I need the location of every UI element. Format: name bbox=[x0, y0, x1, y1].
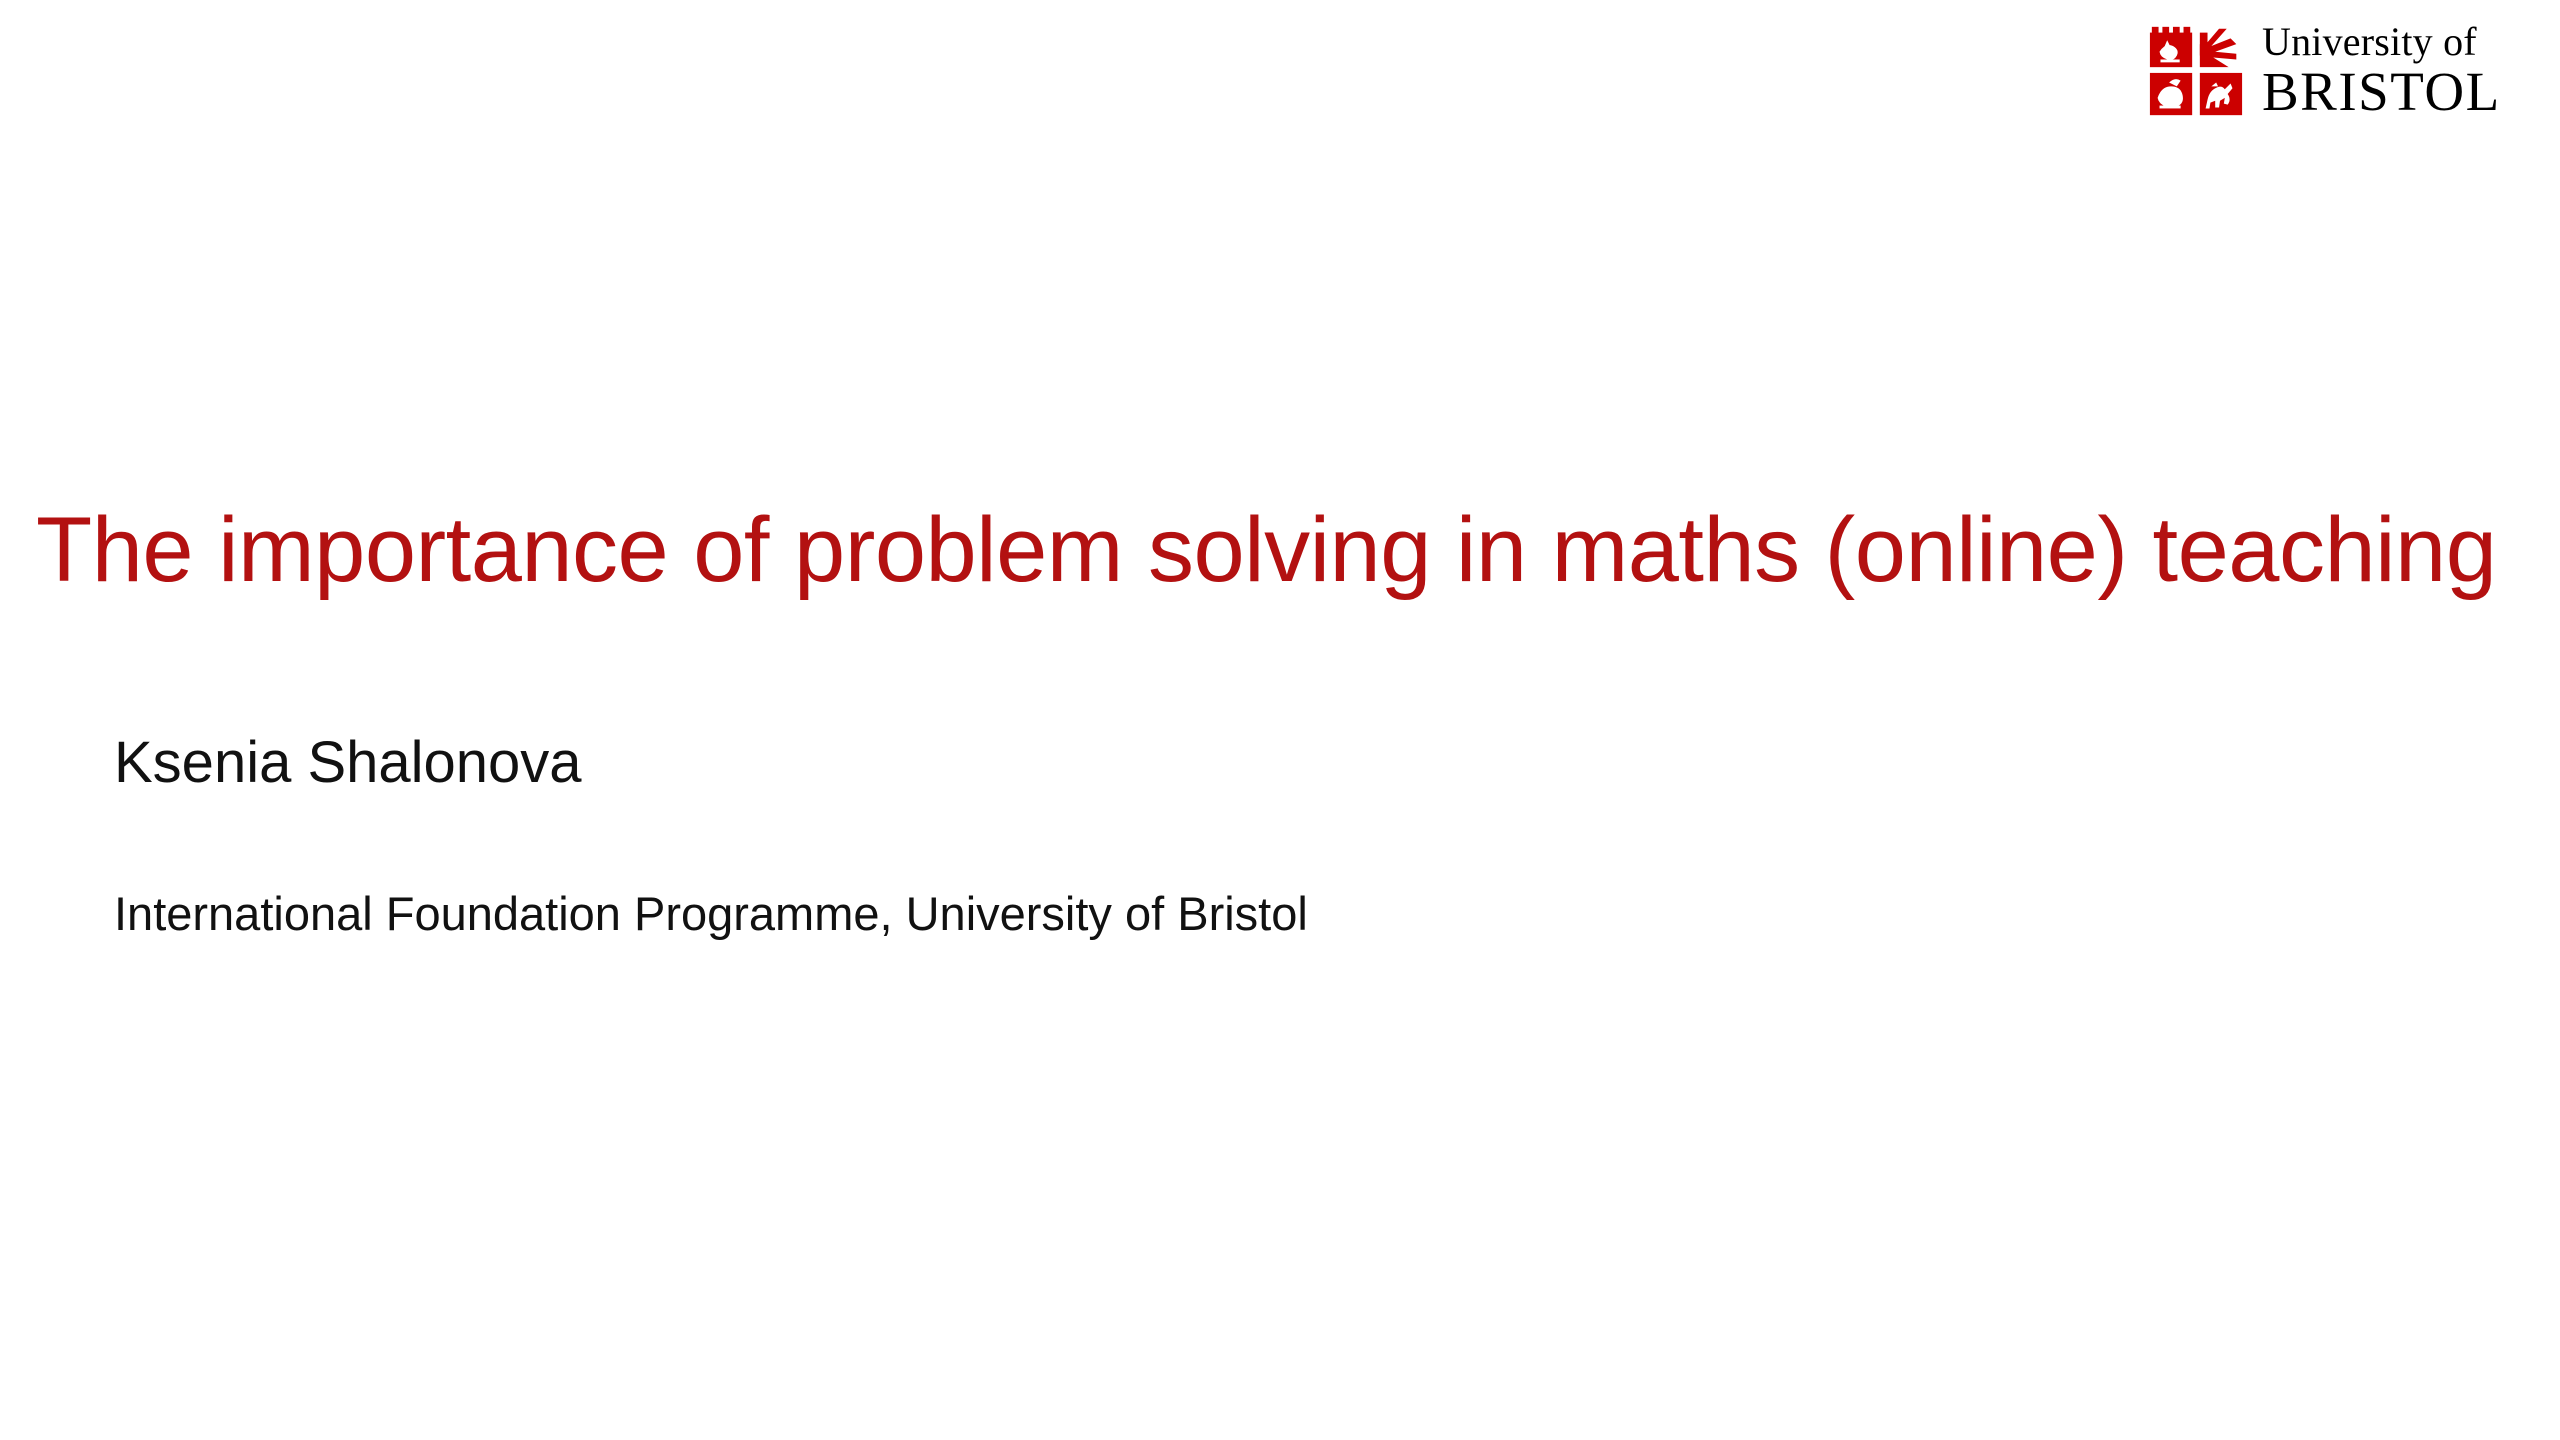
slide-title: The importance of problem solving in mat… bbox=[36, 500, 2524, 601]
presentation-slide: University of BRISTOL The importance of … bbox=[0, 0, 2560, 1440]
author-name: Ksenia Shalonova bbox=[114, 730, 582, 797]
university-of-bristol-logo: University of BRISTOL bbox=[2148, 22, 2501, 119]
bristol-crest-icon bbox=[2148, 23, 2244, 119]
author-affiliation: International Foundation Programme, Univ… bbox=[114, 886, 1308, 942]
logo-bristol-text: BRISTOL bbox=[2262, 64, 2501, 119]
logo-wordmark: University of BRISTOL bbox=[2262, 22, 2501, 119]
logo-university-text: University of bbox=[2262, 22, 2501, 62]
